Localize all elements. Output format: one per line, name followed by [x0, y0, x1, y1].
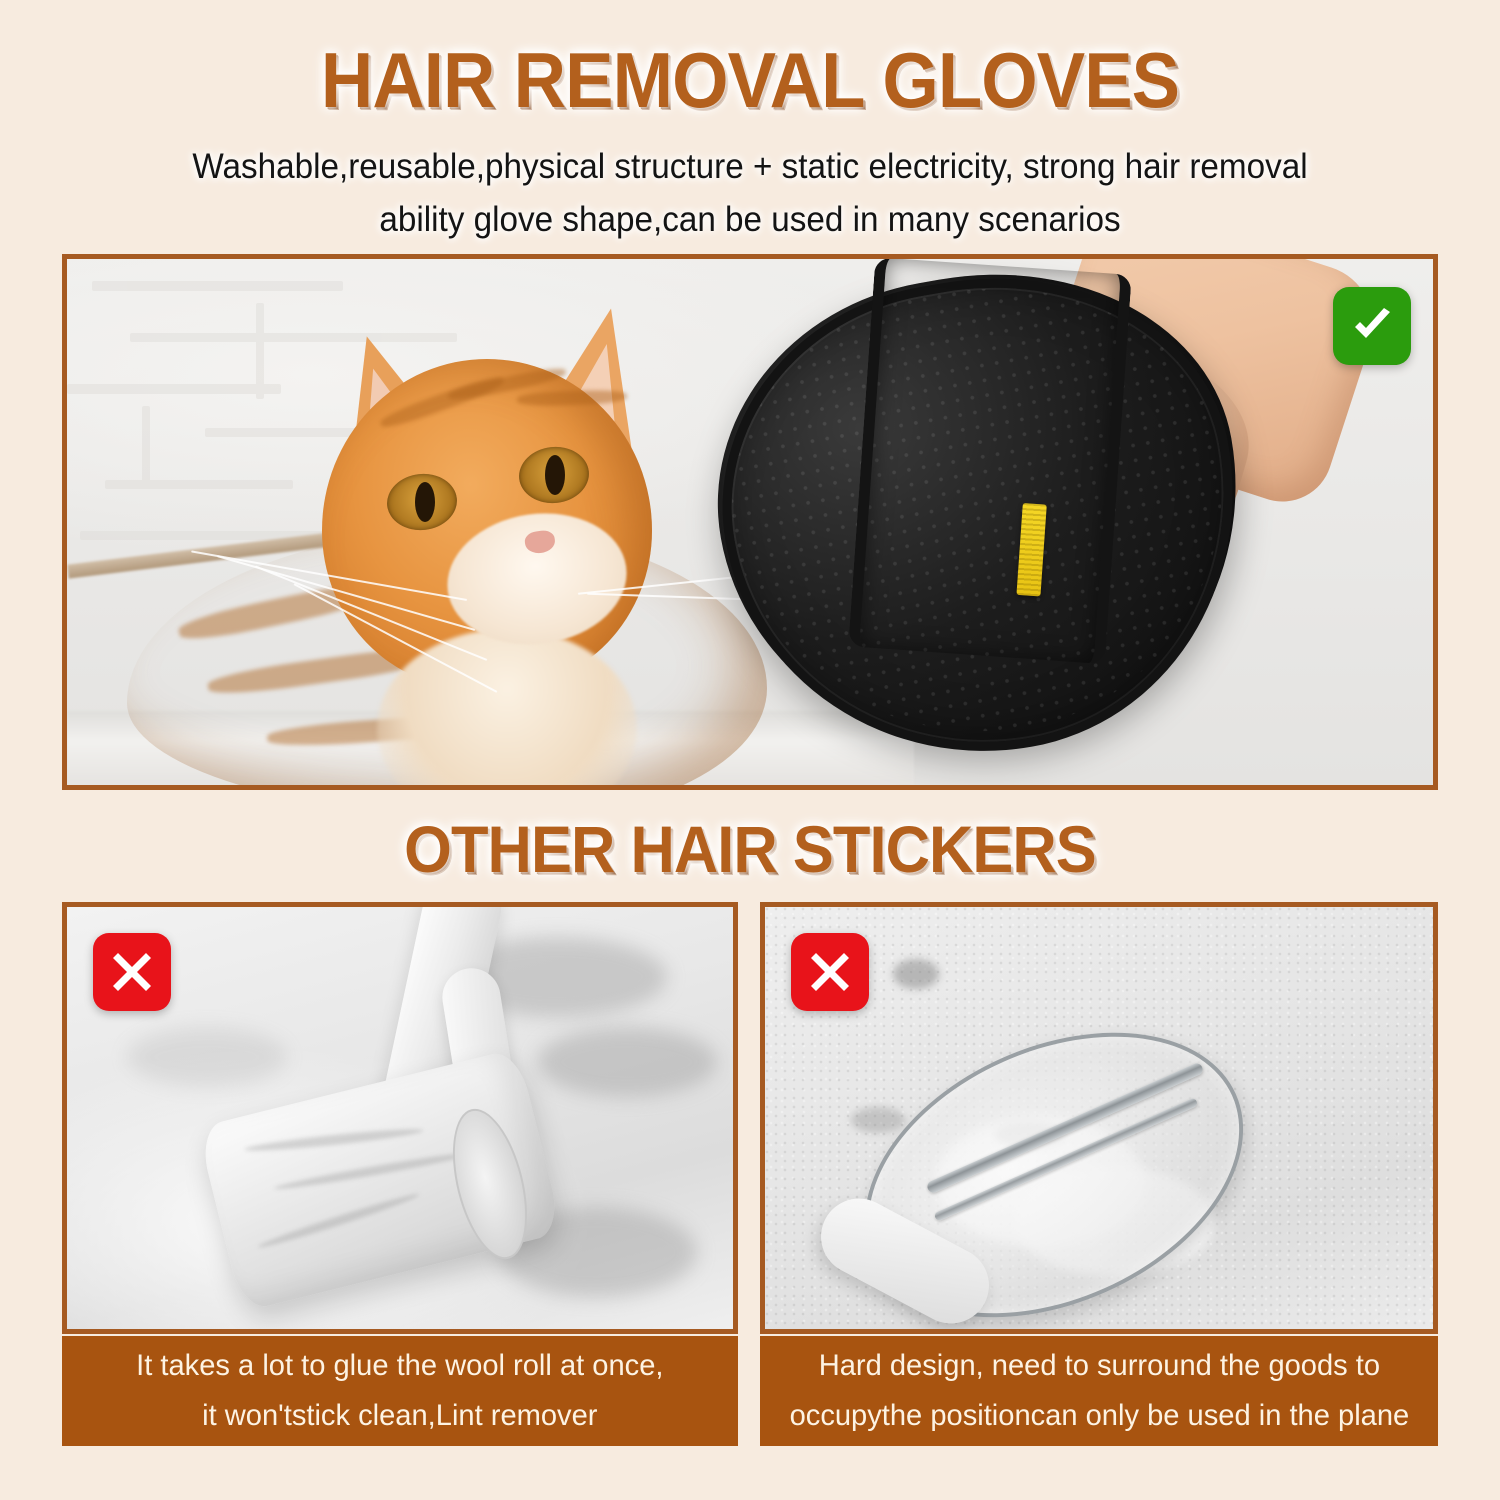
- page-subtitle: Washable,reusable,physical structure + s…: [95, 140, 1406, 246]
- comparison-panel-lint-roller: [62, 902, 738, 1334]
- section-title: OTHER HAIR STICKERS: [53, 812, 1448, 886]
- caption-left-line-2: it won'tstick clean,Lint remover: [136, 1391, 663, 1441]
- product-infographic: HAIR REMOVAL GLOVES Washable,reusable,ph…: [0, 0, 1500, 1500]
- hero-photo: [67, 259, 1433, 785]
- fabric-shaver-photo: [765, 907, 1433, 1329]
- caption-right-line-2: occupythe positioncan only be used in th…: [789, 1391, 1409, 1441]
- subtitle-line-1: Washable,reusable,physical structure + s…: [95, 140, 1406, 193]
- caption-left-line-1: It takes a lot to glue the wool roll at …: [136, 1341, 663, 1391]
- comparison-panel-fabric-shaver: [760, 902, 1438, 1334]
- page-title: HAIR REMOVAL GLOVES: [53, 38, 1448, 122]
- cross-icon: [93, 933, 171, 1011]
- cross-icon: [791, 933, 869, 1011]
- subtitle-line-2: ability glove shape,can be used in many …: [95, 193, 1406, 246]
- glove-illustration: [707, 264, 1287, 784]
- lint-roller-photo: [67, 907, 733, 1329]
- caption-fabric-shaver: Hard design, need to surround the goods …: [760, 1336, 1438, 1446]
- check-icon: [1333, 287, 1411, 365]
- cat-pupil-right: [545, 455, 565, 495]
- cat-pupil-left: [415, 482, 435, 522]
- hair-removal-glove: [683, 259, 1278, 785]
- hero-image-frame: [62, 254, 1438, 790]
- caption-lint-roller: It takes a lot to glue the wool roll at …: [62, 1336, 738, 1446]
- caption-right-line-1: Hard design, need to surround the goods …: [789, 1341, 1409, 1391]
- glove-pocket-opening: [848, 259, 1132, 664]
